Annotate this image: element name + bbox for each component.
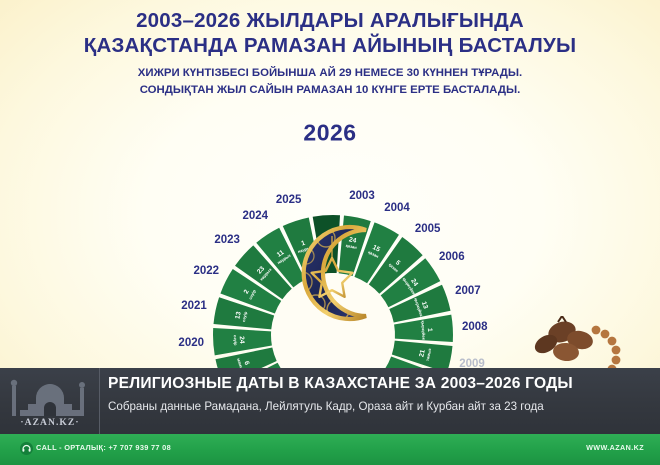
footer-subtitle: Собраны данные Рамадана, Лейлятуль Кадр,… (108, 399, 656, 414)
crescent-moon-icon (282, 216, 386, 330)
infographic-canvas: 2003–2026 ЖЫЛДАРЫ АРАЛЫҒЫНДА ҚАЗАҚСТАНДА… (0, 0, 660, 465)
segment-year-label: 2004 (384, 202, 410, 214)
segment-year-label: 2025 (276, 194, 302, 206)
footer-title: РЕЛИГИОЗНЫЕ ДАТЫ В КАЗАХСТАНЕ ЗА 2003–20… (108, 374, 656, 394)
segment-year-label: 2006 (439, 251, 465, 263)
segment-year-label: 2005 (415, 223, 441, 235)
segment-year-label: 2021 (181, 300, 207, 312)
segment-year-label: 2022 (193, 265, 219, 277)
azan-logo-text: ·AZAN.KZ· (0, 418, 100, 428)
segment-year-label: 2024 (242, 210, 268, 222)
segment-year-label: 2023 (214, 234, 240, 246)
segment-year-label: 2007 (455, 285, 481, 297)
call-center-label[interactable]: CALL - ОРТАЛЫҚ: +7 707 939 77 08 (36, 443, 171, 452)
contact-bar: CALL - ОРТАЛЫҚ: +7 707 939 77 08 WWW.AZA… (0, 434, 660, 465)
footer-text: РЕЛИГИОЗНЫЕ ДАТЫ В КАЗАХСТАНЕ ЗА 2003–20… (108, 374, 656, 414)
azan-logo[interactable]: ·AZAN.KZ· (0, 368, 100, 434)
segment-year-label: 2008 (462, 321, 488, 333)
headset-icon (20, 442, 33, 460)
segment-year-label: 2020 (178, 337, 204, 349)
website-label[interactable]: WWW.AZAN.KZ (586, 443, 644, 452)
segment-year-label: 2003 (349, 190, 375, 202)
